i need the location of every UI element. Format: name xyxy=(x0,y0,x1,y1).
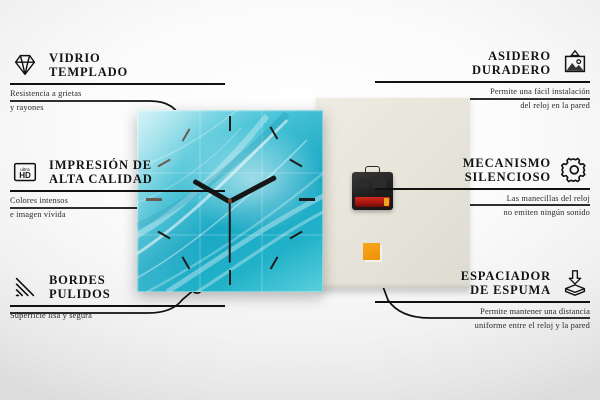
clock-tick-6 xyxy=(229,270,231,285)
feature-header: ASIDERO DURADERO xyxy=(375,48,590,78)
feature-header: VIDRIO TEMPLADO xyxy=(10,50,225,80)
svg-text:HD: HD xyxy=(19,171,31,180)
feature-bordes-pulidos: BORDES PULIDOS Superficie lisa y segura xyxy=(10,272,225,321)
foam-spacer-arrow-icon xyxy=(560,268,590,298)
feature-subtitle-line1: Resistencia a grietas xyxy=(10,89,225,100)
feature-subtitle-line1: Permite mantener una distancia xyxy=(375,307,590,318)
feature-title-line2: ALTA CALIDAD xyxy=(49,172,153,187)
feature-espaciador-de-espuma: ESPACIADOR DE ESPUMA Permite mantener un… xyxy=(375,268,590,332)
feature-title-line2: SILENCIOSO xyxy=(463,170,551,185)
feature-rule xyxy=(10,190,225,192)
feature-title-line2: TEMPLADO xyxy=(49,65,128,80)
feature-header: ESPACIADOR DE ESPUMA xyxy=(375,268,590,298)
feature-subtitle-line2: del reloj en la pared xyxy=(375,101,590,112)
feature-rule xyxy=(10,305,225,307)
infographic-canvas: VIDRIO TEMPLADO Resistencia a grietas y … xyxy=(0,0,600,400)
feature-subtitle-line2: y rayones xyxy=(10,103,225,114)
feature-subtitle-line2: e imagen vívida xyxy=(10,210,225,221)
feature-title-line1: ASIDERO xyxy=(472,49,551,64)
feature-mecanismo-silencioso: MECANISMO SILENCIOSO Las manecillas del … xyxy=(375,155,590,219)
clock-second-hand xyxy=(229,201,231,263)
feature-header: MECANISMO SILENCIOSO xyxy=(375,155,590,185)
feature-rule xyxy=(375,301,590,303)
feature-rule xyxy=(375,188,590,190)
foam-spacer xyxy=(363,243,380,260)
clock-tick-3 xyxy=(299,198,315,201)
polished-edges-icon xyxy=(10,272,40,302)
feature-subtitle-line2: uniforme entre el reloj y la pared xyxy=(375,321,590,332)
feature-subtitle-line2: no emiten ningún sonido xyxy=(375,208,590,219)
feature-title-line1: ESPACIADOR xyxy=(461,269,551,284)
wall-frame-hook-icon xyxy=(560,48,590,78)
clock-tick-12 xyxy=(229,116,231,131)
feature-subtitle-line1: Colores intensos xyxy=(10,196,225,207)
feature-header: ultra HD IMPRESIÓN DE ALTA CALIDAD xyxy=(10,157,225,187)
ultra-hd-icon: ultra HD xyxy=(10,157,40,187)
diamond-icon xyxy=(10,50,40,80)
clock-center-pin xyxy=(228,199,232,203)
feature-title-line2: DURADERO xyxy=(472,63,551,78)
feature-asidero-duradero: ASIDERO DURADERO Permite una fácil insta… xyxy=(375,48,590,112)
feature-title-line2: DE ESPUMA xyxy=(461,283,551,298)
feature-subtitle-line1: Superficie lisa y segura xyxy=(10,311,225,322)
feature-rule xyxy=(10,83,225,85)
feature-title-line2: PULIDOS xyxy=(49,287,111,302)
feature-title-line1: MECANISMO xyxy=(463,156,551,171)
feature-impresion-alta-calidad: ultra HD IMPRESIÓN DE ALTA CALIDAD Color… xyxy=(10,157,225,221)
feature-subtitle-line1: Las manecillas del reloj xyxy=(375,194,590,205)
feature-title-line1: BORDES xyxy=(49,273,111,288)
mechanism-notch-left xyxy=(357,179,369,187)
feature-title-line1: IMPRESIÓN DE xyxy=(49,158,153,173)
feature-title-line1: VIDRIO xyxy=(49,51,128,66)
gear-icon xyxy=(560,155,590,185)
feature-rule xyxy=(375,81,590,83)
feature-header: BORDES PULIDOS xyxy=(10,272,225,302)
feature-subtitle-line1: Permite una fácil instalación xyxy=(375,87,590,98)
feature-vidrio-templado: VIDRIO TEMPLADO Resistencia a grietas y … xyxy=(10,50,225,114)
